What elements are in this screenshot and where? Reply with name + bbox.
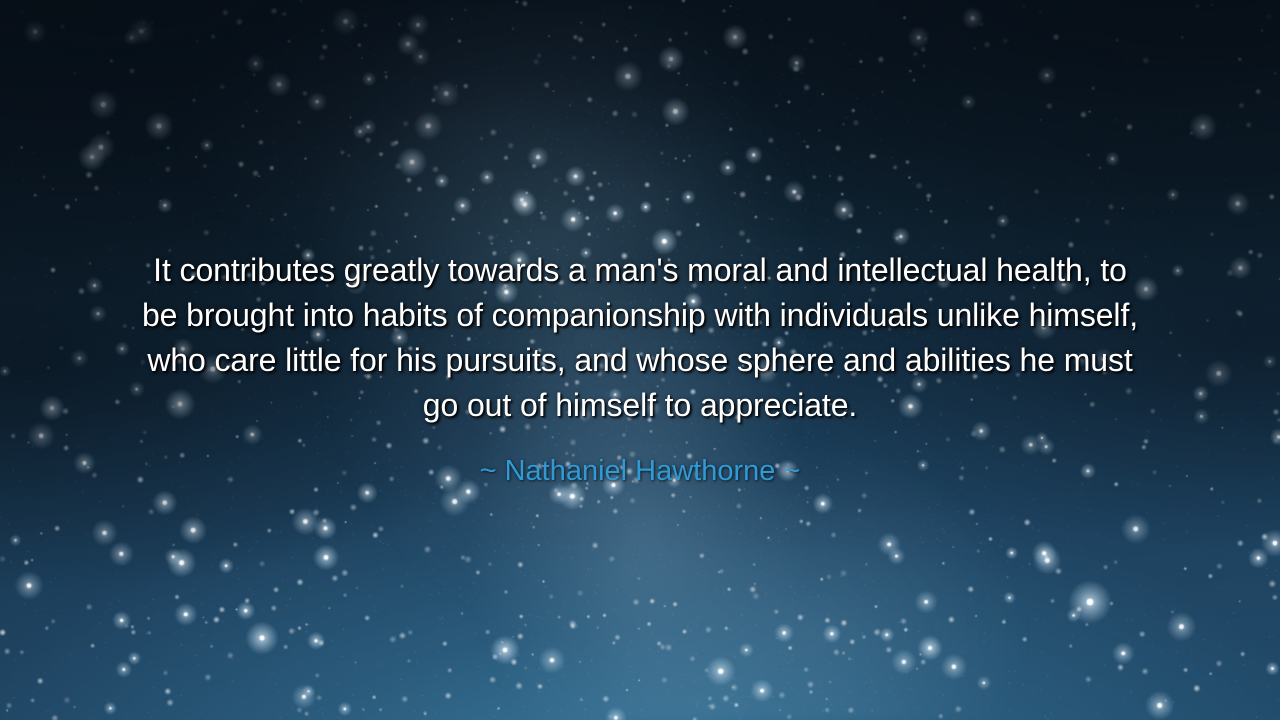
quote-text-block: It contributes greatly towards a man's m…: [0, 248, 1280, 488]
quote-attribution: ~ Nathaniel Hawthorne ~: [72, 454, 1208, 488]
quote-image-canvas: It contributes greatly towards a man's m…: [0, 0, 1280, 720]
quote-text: It contributes greatly towards a man's m…: [135, 248, 1145, 428]
